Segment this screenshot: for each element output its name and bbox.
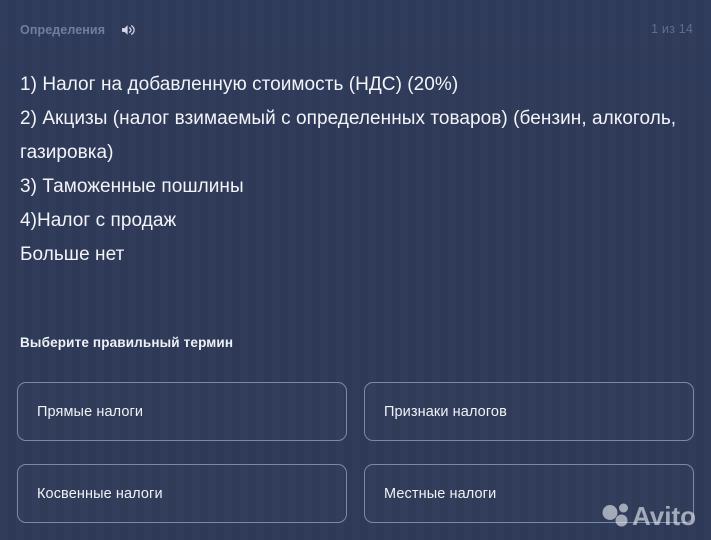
header-bar: Определения 1 из 14 <box>0 0 711 58</box>
deck-title: Определения <box>20 23 105 37</box>
answer-option-label: Местные налоги <box>384 485 496 503</box>
definition-text: 1) Налог на добавленную стоимость (НДС) … <box>20 68 692 272</box>
answer-option-3[interactable]: Косвенные налоги <box>17 464 347 523</box>
answer-option-label: Признаки налогов <box>384 403 507 421</box>
card-counter: 1 из 14 <box>651 22 693 36</box>
question-prompt: Выберите правильный термин <box>20 334 233 352</box>
answer-option-1[interactable]: Прямые налоги <box>17 382 347 441</box>
answer-option-label: Прямые налоги <box>37 403 143 421</box>
answer-option-4[interactable]: Местные налоги <box>364 464 694 523</box>
answer-options: Прямые налоги Признаки налогов Косвенные… <box>17 382 694 523</box>
answer-option-2[interactable]: Признаки налогов <box>364 382 694 441</box>
speaker-icon[interactable] <box>120 22 137 38</box>
answer-option-label: Косвенные налоги <box>37 485 163 503</box>
quiz-screen: Определения 1 из 14 1) Налог на добавлен… <box>0 0 711 540</box>
